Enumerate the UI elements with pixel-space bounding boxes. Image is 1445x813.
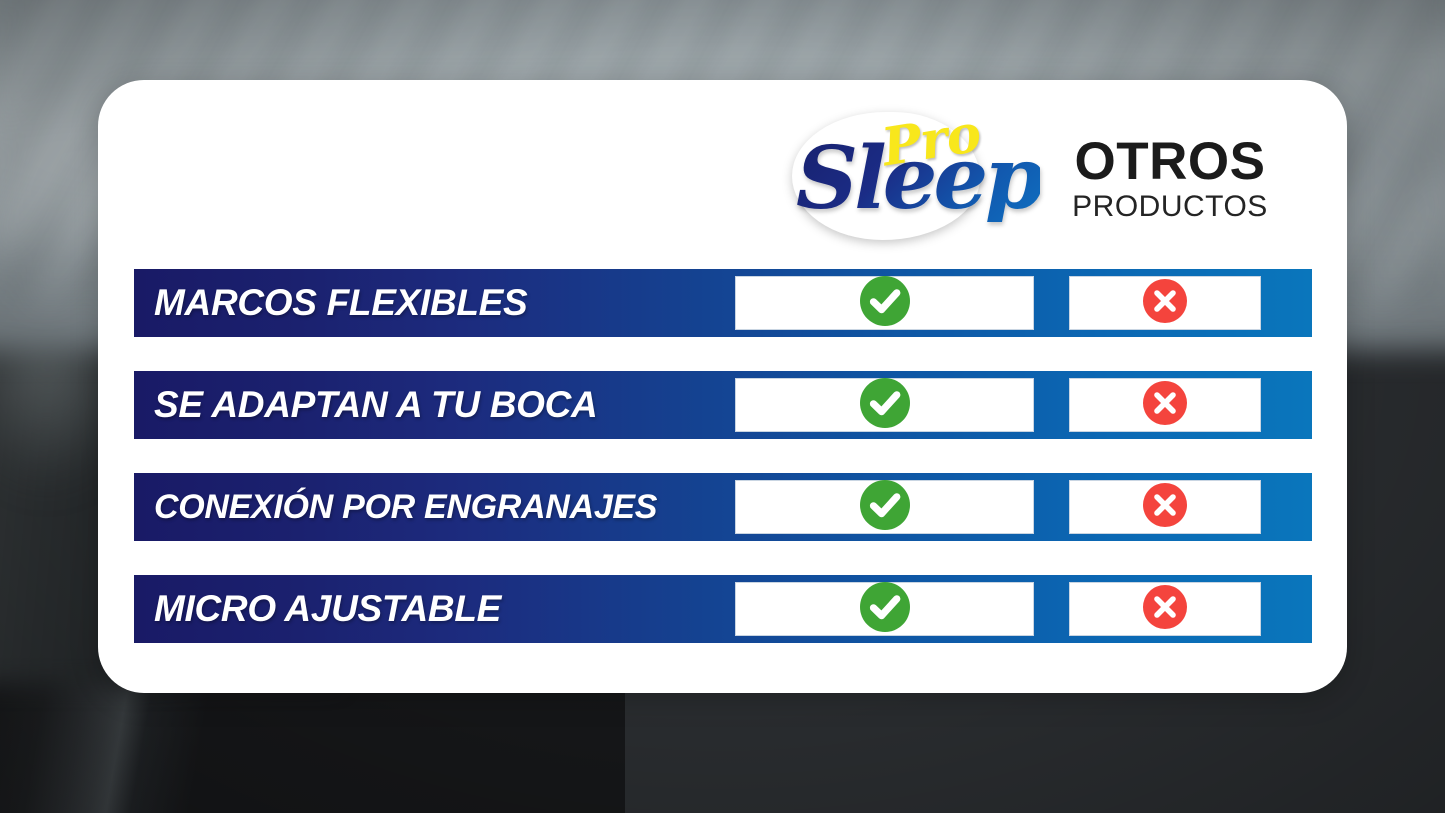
row-tail-spacer [1261,371,1312,439]
comparison-row: MICRO AJUSTABLE [134,575,1312,643]
row-tail-spacer [1261,269,1312,337]
other-products-result-cell [1069,378,1261,432]
other-products-result-cell [1069,276,1261,330]
comparison-row: MARCOS FLEXIBLES [134,269,1312,337]
feature-label: MICRO AJUSTABLE [134,575,735,643]
competitor-heading: OTROS PRODUCTOS [1028,134,1312,224]
check-circle-icon [859,581,911,638]
other-products-result-cell [1069,480,1261,534]
cross-circle-icon [1142,584,1188,635]
comparison-rows: MARCOS FLEXIBLESSE ADAPTAN A TU BOCACONE… [134,269,1312,643]
sleep-pro-result-cell [735,480,1034,534]
cross-circle-icon [1142,380,1188,431]
card-header: Sleep Pro OTROS PRODUCTOS [98,80,1347,260]
check-circle-icon [859,275,911,332]
feature-label: SE ADAPTAN A TU BOCA [134,371,735,439]
other-products-result-cell [1069,582,1261,636]
cross-circle-icon [1142,278,1188,329]
cross-circle-icon [1142,482,1188,533]
feature-label: MARCOS FLEXIBLES [134,269,735,337]
row-tail-spacer [1261,575,1312,643]
comparison-row: CONEXIÓN POR ENGRANAJES [134,473,1312,541]
sleep-pro-result-cell [735,378,1034,432]
sleep-pro-logo: Sleep Pro [786,102,986,250]
feature-label: CONEXIÓN POR ENGRANAJES [134,473,735,541]
comparison-row: SE ADAPTAN A TU BOCA [134,371,1312,439]
sleep-pro-result-cell [735,276,1034,330]
comparison-card: Sleep Pro OTROS PRODUCTOS MARCOS FLEXIBL… [98,80,1347,693]
sleep-pro-result-cell [735,582,1034,636]
check-circle-icon [859,479,911,536]
competitor-subtitle: PRODUCTOS [1028,190,1312,224]
competitor-title: OTROS [1028,134,1312,190]
row-tail-spacer [1261,473,1312,541]
check-circle-icon [859,377,911,434]
